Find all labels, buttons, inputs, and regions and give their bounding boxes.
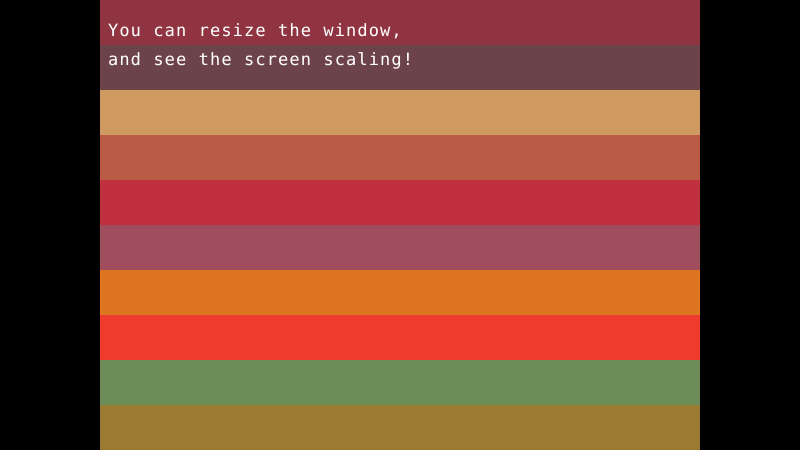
letterbox-bar-left: [0, 0, 100, 450]
color-stripe-olive-brown: [100, 405, 700, 450]
color-stripe-dark-red: [100, 0, 700, 45]
color-stripe-dusty-rose: [100, 225, 700, 270]
color-stripe-orange: [100, 270, 700, 315]
color-stripe-plum: [100, 45, 700, 90]
color-stripe-sage-green: [100, 360, 700, 405]
color-stripe-crimson: [100, 180, 700, 225]
letterbox-bar-right: [700, 0, 800, 450]
color-stripe-stack: [100, 0, 700, 450]
color-stripe-tan: [100, 90, 700, 135]
game-viewport[interactable]: You can resize the window, and see the s…: [100, 0, 700, 450]
app-window: You can resize the window, and see the s…: [0, 0, 800, 450]
color-stripe-bright-red: [100, 315, 700, 360]
color-stripe-terracotta: [100, 135, 700, 180]
